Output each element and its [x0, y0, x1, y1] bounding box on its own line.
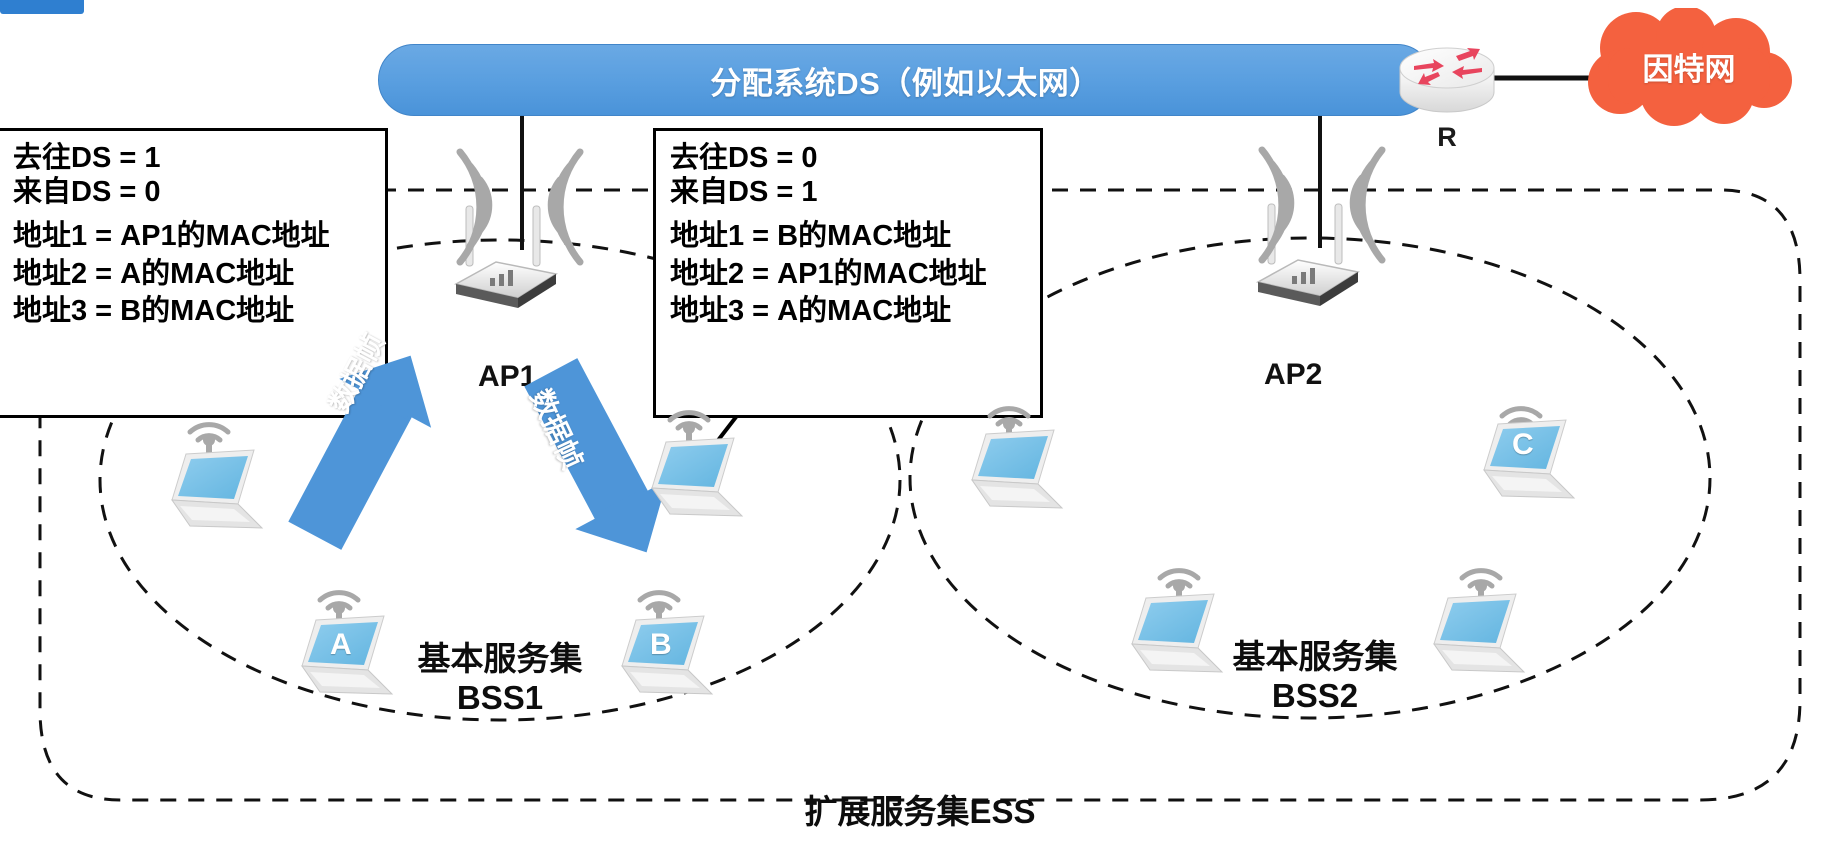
ess-caption: 扩展服务集ESS	[760, 785, 1080, 833]
ap1-label: AP1	[478, 360, 536, 394]
sta-bss1-ne-laptop	[638, 436, 748, 528]
info-mid-line-5: 地址3 = A的MAC地址	[670, 293, 1028, 330]
wlan-architecture-diagram: 分配系统DS（例如以太网）	[0, 0, 1839, 841]
internet-cloud-icon	[1578, 8, 1800, 126]
info-left-line-3: 地址1 = AP1的MAC地址	[13, 218, 373, 255]
distribution-system-bar: 分配系统DS（例如以太网）	[378, 44, 1433, 116]
distribution-system-label: 分配系统DS（例如以太网）	[710, 58, 1101, 103]
router-label: R	[1398, 122, 1496, 153]
frame-header-info-box-left: 去往DS = 1 来自DS = 0 地址1 = AP1的MAC地址 地址2 = …	[0, 128, 388, 418]
info-mid-line-2: 来自DS = 1	[670, 175, 1028, 209]
bss1-name: BSS1	[385, 679, 615, 718]
bss2-caption: 基本服务集 BSS2	[1200, 638, 1430, 716]
info-left-line-1: 去往DS = 1	[13, 141, 373, 175]
ap2-label: AP2	[1264, 358, 1322, 392]
info-mid-line-1: 去往DS = 0	[670, 141, 1028, 175]
bss1-title: 基本服务集	[385, 640, 615, 679]
sta-bss2-nw-laptop	[958, 428, 1068, 520]
bss2-title: 基本服务集	[1200, 638, 1430, 677]
sta-b-laptop	[608, 614, 718, 706]
sta-bss2-se-laptop	[1420, 592, 1530, 684]
frame-header-info-box-middle: 去往DS = 0 来自DS = 1 地址1 = B的MAC地址 地址2 = AP…	[653, 128, 1043, 418]
info-left-line-2: 来自DS = 0	[13, 175, 373, 209]
sta-c-laptop	[1470, 418, 1580, 510]
info-mid-line-4: 地址2 = AP1的MAC地址	[670, 256, 1028, 293]
info-left-line-4: 地址2 = A的MAC地址	[13, 256, 373, 293]
sta-a-laptop	[288, 614, 398, 706]
bss1-caption: 基本服务集 BSS1	[385, 640, 615, 718]
sta-bss1-nw-laptop	[158, 448, 268, 540]
info-left-line-5: 地址3 = B的MAC地址	[13, 293, 373, 330]
data-frame-label-right: 数据帧	[522, 382, 594, 475]
access-point-ap2-icon	[1240, 198, 1370, 318]
bss2-name: BSS2	[1200, 677, 1430, 716]
access-point-ap1-icon	[438, 200, 568, 320]
top-left-accent-bar	[0, 0, 84, 14]
router-icon	[1398, 42, 1496, 116]
info-mid-line-3: 地址1 = B的MAC地址	[670, 218, 1028, 255]
